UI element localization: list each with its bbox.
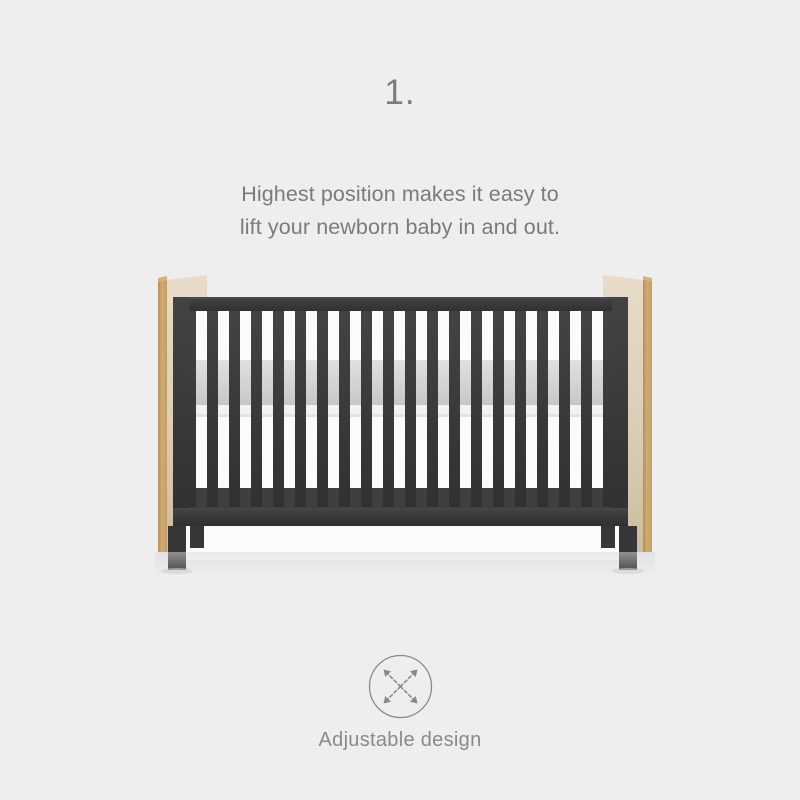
left-post — [173, 297, 189, 512]
feature-caption: Adjustable design — [0, 729, 800, 752]
infographic-page: 1. Highest position makes it easy to lif… — [0, 0, 800, 800]
step-number: 1. — [0, 74, 800, 113]
adjustable-design-icon-wrapper — [368, 654, 433, 719]
top-rail — [173, 297, 628, 311]
description-line-1: Highest position makes it easy to — [0, 178, 800, 211]
right-post — [612, 297, 628, 512]
bottom-rail — [173, 508, 628, 526]
rear-left-leg — [190, 526, 204, 548]
floor-shadow — [155, 552, 655, 577]
rear-right-leg — [601, 526, 615, 548]
step-description: Highest position makes it easy to lift y… — [0, 178, 800, 245]
expand-arrows-icon — [368, 654, 433, 719]
crib-illustration — [155, 262, 655, 577]
description-line-2: lift your newborn baby in and out. — [0, 211, 800, 244]
